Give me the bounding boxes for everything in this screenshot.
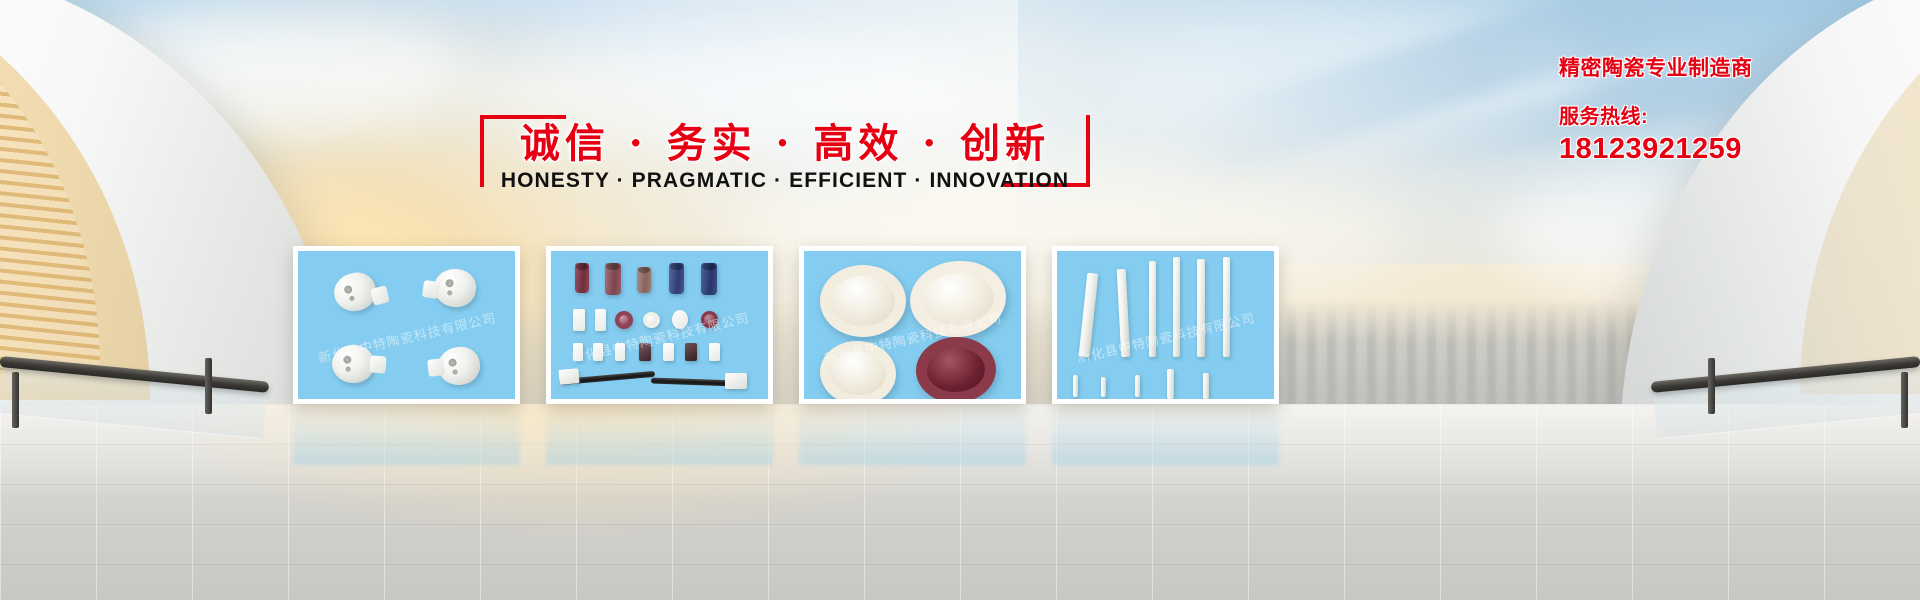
ceramic-ring-part-dark — [914, 335, 997, 399]
ceramic-rod-small — [1101, 377, 1106, 397]
panel-reflection — [546, 409, 773, 465]
cable-connector — [725, 373, 747, 389]
ceramic-tube-part — [701, 263, 717, 295]
product-image-area: 新化县中特陶瓷科技有限公司 — [298, 251, 515, 399]
ceramic-cap-tab — [422, 280, 440, 299]
ceramic-tube-part — [575, 263, 589, 293]
hotline-phone-number[interactable]: 18123921259 — [1559, 133, 1899, 166]
slogan-chinese: 诚信 · 务实 · 高效 · 创新 — [480, 111, 1090, 169]
ceramic-cap-tab — [370, 285, 390, 305]
ceramic-ring-part — [820, 265, 906, 337]
ceramic-chip-part — [573, 309, 585, 331]
ceramic-ring-part — [817, 338, 898, 399]
railing-post — [205, 358, 212, 414]
railing-post — [1901, 372, 1908, 428]
railing-post — [12, 372, 19, 428]
product-panel-tubes-components[interactable]: 新化县中特陶瓷科技有限公司 — [546, 246, 773, 404]
ceramic-cap-part — [331, 344, 376, 385]
ceramic-chip-part — [573, 343, 583, 361]
ceramic-chip-part — [615, 343, 625, 361]
ceramic-chip-part — [685, 343, 697, 361]
product-panel-insulator-caps[interactable]: 新化县中特陶瓷科技有限公司 — [293, 246, 520, 404]
company-tagline: 精密陶瓷专业制造商 — [1559, 52, 1899, 82]
ceramic-chip-part — [709, 343, 720, 361]
ceramic-rod-part — [1149, 261, 1156, 357]
slogan-english: HONESTY · PRAGMATIC · EFFICIENT · INNOVA… — [480, 169, 1090, 193]
cable-connector — [558, 368, 579, 385]
ceramic-chip-part — [663, 343, 674, 361]
product-panel-ceramic-rings[interactable]: 新化县中特陶瓷科技有限公司 — [799, 246, 1026, 404]
hero-banner: 诚信 · 务实 · 高效 · 创新 HONESTY · PRAGMATIC · … — [0, 0, 1920, 600]
ceramic-chip-part — [595, 309, 606, 331]
product-image-area: 新化县中特陶瓷科技有限公司 — [804, 251, 1021, 399]
slogan-block: 诚信 · 务实 · 高效 · 创新 HONESTY · PRAGMATIC · … — [480, 105, 1090, 205]
ceramic-tube-part — [637, 267, 651, 293]
railing-post — [1708, 358, 1715, 414]
ceramic-tube-part — [605, 263, 621, 295]
ceramic-rod-part — [1223, 257, 1230, 357]
ceramic-rod-part — [1197, 259, 1205, 357]
ceramic-chip-part — [639, 343, 651, 361]
ceramic-rod-small — [1203, 373, 1209, 399]
panel-reflection — [799, 409, 1026, 465]
ceramic-cap-tab — [369, 355, 386, 373]
ceramic-rod-part — [1173, 257, 1180, 357]
ceramic-tube-part — [669, 263, 684, 294]
product-panel-row: 新化县中特陶瓷科技有限公司 — [293, 246, 1279, 404]
ceramic-oring-part — [615, 311, 633, 329]
ceramic-ring-part — [906, 256, 1009, 342]
ceramic-oring-part — [643, 312, 660, 328]
ceramic-rod-small — [1135, 375, 1140, 397]
panel-reflection — [293, 409, 520, 465]
ceramic-chip-part — [593, 343, 603, 361]
ceramic-disc-part — [672, 310, 688, 329]
ceramic-rod-part — [1079, 273, 1099, 358]
ceramic-rod-small — [1073, 375, 1078, 397]
ceramic-rod-part — [1117, 269, 1131, 357]
product-image-area: 新化县中特陶瓷科技有限公司 — [1057, 251, 1274, 399]
contact-block: 精密陶瓷专业制造商 服务热线: 18123921259 — [1559, 52, 1899, 166]
product-image-area: 新化县中特陶瓷科技有限公司 — [551, 251, 768, 399]
ceramic-cap-tab — [427, 358, 445, 377]
ceramic-rod-small — [1167, 369, 1174, 399]
product-panel-ceramic-rods[interactable]: 新化县中特陶瓷科技有限公司 — [1052, 246, 1279, 404]
hotline-label: 服务热线: — [1559, 100, 1899, 129]
ceramic-oring-part — [701, 311, 718, 328]
panel-reflection — [1052, 409, 1279, 465]
